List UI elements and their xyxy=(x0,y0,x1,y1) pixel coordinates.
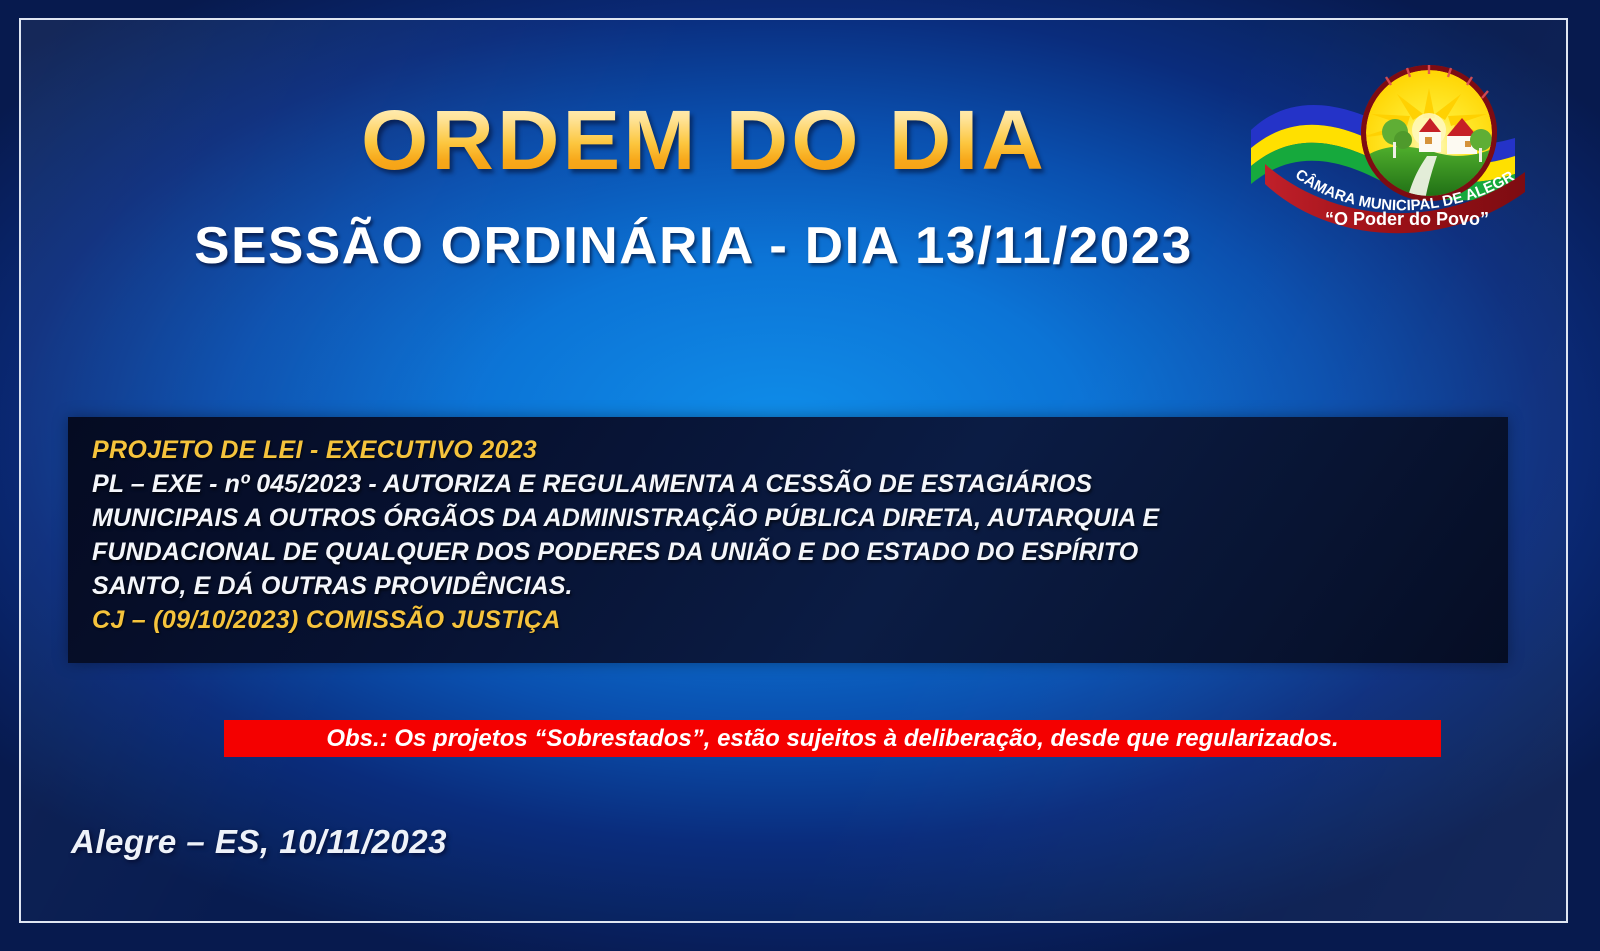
page-title: ORDEM DO DIA xyxy=(361,98,1047,182)
logo-slogan: “O Poder do Povo” xyxy=(1325,209,1489,229)
project-body-line: FUNDACIONAL DE QUALQUER DOS PODERES DA U… xyxy=(92,535,1484,569)
project-body: PL – EXE - nº 045/2023 - AUTORIZA E REGU… xyxy=(92,467,1484,603)
project-heading: PROJETO DE LEI - EXECUTIVO 2023 xyxy=(92,433,1484,467)
slide-frame: ORDEM DO DIA SESSÃO ORDINÁRIA - DIA 13/1… xyxy=(19,18,1568,923)
observation-banner: Obs.: Os projetos “Sobrestados”, estão s… xyxy=(224,720,1441,757)
slide-canvas: ORDEM DO DIA SESSÃO ORDINÁRIA - DIA 13/1… xyxy=(0,0,1600,951)
page-subtitle: SESSÃO ORDINÁRIA - DIA 13/11/2023 xyxy=(19,216,1379,276)
observation-text: Obs.: Os projetos “Sobrestados”, estão s… xyxy=(326,725,1338,753)
title-block: ORDEM DO DIA xyxy=(21,98,1386,182)
project-commission-line: CJ – (09/10/2023) COMISSÃO JUSTIÇA xyxy=(92,603,1484,637)
project-body-line: MUNICIPAIS A OUTROS ÓRGÃOS DA ADMINISTRA… xyxy=(92,501,1484,535)
project-content-box: PROJETO DE LEI - EXECUTIVO 2023 PL – EXE… xyxy=(68,417,1508,663)
project-body-line: PL – EXE - nº 045/2023 - AUTORIZA E REGU… xyxy=(92,467,1484,501)
project-body-line: SANTO, E DÁ OUTRAS PROVIDÊNCIAS. xyxy=(92,569,1484,603)
camara-municipal-logo: CÂMARA MUNICIPAL DE ALEGRE - ES “O Poder… xyxy=(1229,60,1539,240)
footer-location-date: Alegre – ES, 10/11/2023 xyxy=(71,823,447,861)
